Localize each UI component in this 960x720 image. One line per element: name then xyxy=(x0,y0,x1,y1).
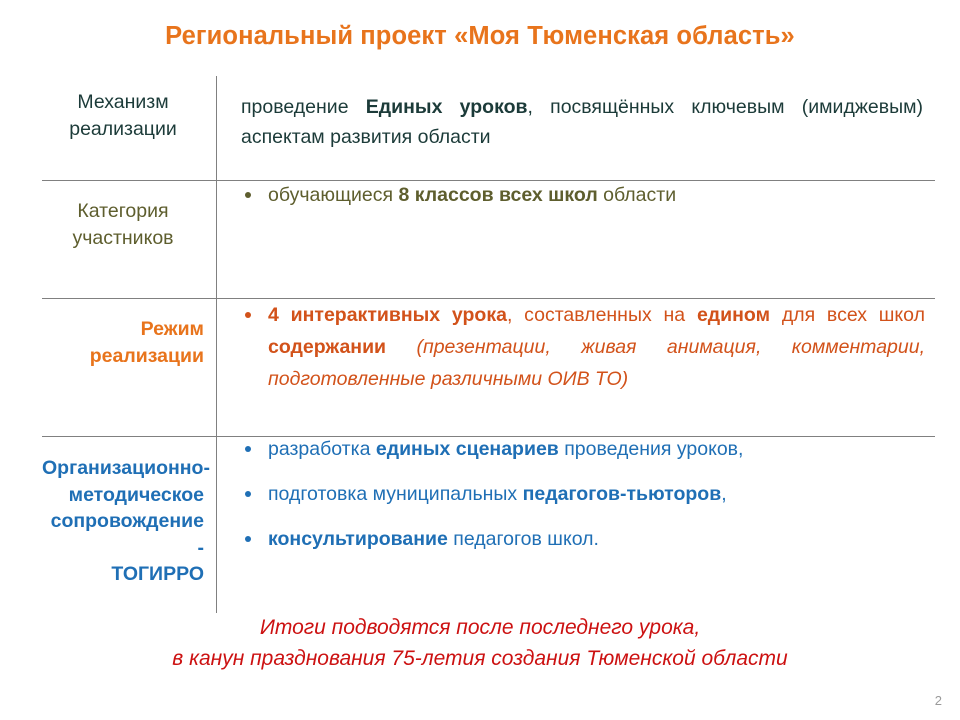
mechanism-text-bold: Единых уроков xyxy=(366,96,528,118)
table-row-mechanism: Механизм реализации проведение Единых ур… xyxy=(42,76,935,180)
mode-bold-2: едином xyxy=(697,304,770,326)
label-mode-line2: реализации xyxy=(42,343,204,370)
support-b3-bold: консультирование xyxy=(268,528,448,550)
mode-mid-2: для всех школ xyxy=(770,304,925,326)
label-mechanism-line1: Механизм xyxy=(42,76,204,116)
support-bullet-list: разработка единых сценариев проведения у… xyxy=(241,437,931,552)
row-body-mode: 4 интерактивных урока, составленных на е… xyxy=(216,299,935,436)
category-bullet-part2: области xyxy=(598,184,676,206)
page-number: 2 xyxy=(935,693,942,708)
mechanism-paragraph: проведение Единых уроков, посвящённых кл… xyxy=(241,76,931,152)
list-item: обучающиеся 8 классов всех школ области xyxy=(241,181,931,209)
row-label-mechanism: Механизм реализации xyxy=(42,76,216,143)
list-item: консультирование педагогов школ. xyxy=(241,527,931,552)
category-bullet-part1: обучающиеся xyxy=(268,184,398,206)
support-b2-part2: , xyxy=(721,483,726,505)
mode-mid-1: , составленных на xyxy=(507,304,697,326)
list-item: подготовка муниципальных педагогов-тьюто… xyxy=(241,482,931,507)
label-support-line1: Организационно- xyxy=(42,437,204,482)
label-category-line2: участников xyxy=(42,225,204,252)
label-mechanism-line2: реализации xyxy=(42,116,204,143)
category-bullet-bold: 8 классов всех школ xyxy=(398,184,597,206)
support-b2-bold: педагогов-тьюторов xyxy=(523,483,722,505)
label-support-line4: ТОГИРРО xyxy=(42,561,204,588)
mechanism-text-part1: проведение xyxy=(241,96,366,118)
category-bullet-list: обучающиеся 8 классов всех школ области xyxy=(241,181,931,209)
footer-line-2: в канун празднования 75-летия создания Т… xyxy=(0,643,960,674)
label-support-line2: методическое xyxy=(42,482,204,509)
mode-bullet-list: 4 интерактивных урока, составленных на е… xyxy=(241,299,931,395)
page-title: Региональный проект «Моя Тюменская облас… xyxy=(0,22,960,51)
support-b1-bold: единых сценариев xyxy=(376,438,559,460)
table-row-support: Организационно- методическое сопровожден… xyxy=(42,436,935,613)
label-mode-line1: Режим xyxy=(42,299,204,343)
row-label-mode: Режим реализации xyxy=(42,299,216,370)
support-b3-part2: педагогов школ. xyxy=(448,528,599,550)
label-category-line1: Категория xyxy=(42,181,204,225)
table-row-category: Категория участников обучающиеся 8 класс… xyxy=(42,180,935,298)
support-b1-part2: проведения уроков, xyxy=(559,438,744,460)
footer-note: Итоги подводятся после последнего урока,… xyxy=(0,612,960,674)
list-item: разработка единых сценариев проведения у… xyxy=(241,437,931,462)
support-b1-part1: разработка xyxy=(268,438,376,460)
row-body-support: разработка единых сценариев проведения у… xyxy=(216,437,935,613)
row-body-mechanism: проведение Единых уроков, посвящённых кл… xyxy=(216,76,935,180)
support-b2-part1: подготовка муниципальных xyxy=(268,483,523,505)
footer-line-1: Итоги подводятся после последнего урока, xyxy=(0,612,960,643)
label-support-line3: сопровождение - xyxy=(42,508,204,561)
content-table: Механизм реализации проведение Единых ур… xyxy=(42,76,935,613)
slide-root: Региональный проект «Моя Тюменская облас… xyxy=(0,0,960,720)
mode-bold-1: 4 интерактивных урока xyxy=(268,304,507,326)
row-body-category: обучающиеся 8 классов всех школ области xyxy=(216,181,935,298)
mode-bold-3: содержании xyxy=(268,336,386,358)
table-row-mode: Режим реализации 4 интерактивных урока, … xyxy=(42,298,935,436)
row-label-support: Организационно- методическое сопровожден… xyxy=(42,437,216,588)
row-label-category: Категория участников xyxy=(42,181,216,252)
list-item: 4 интерактивных урока, составленных на е… xyxy=(241,299,931,395)
